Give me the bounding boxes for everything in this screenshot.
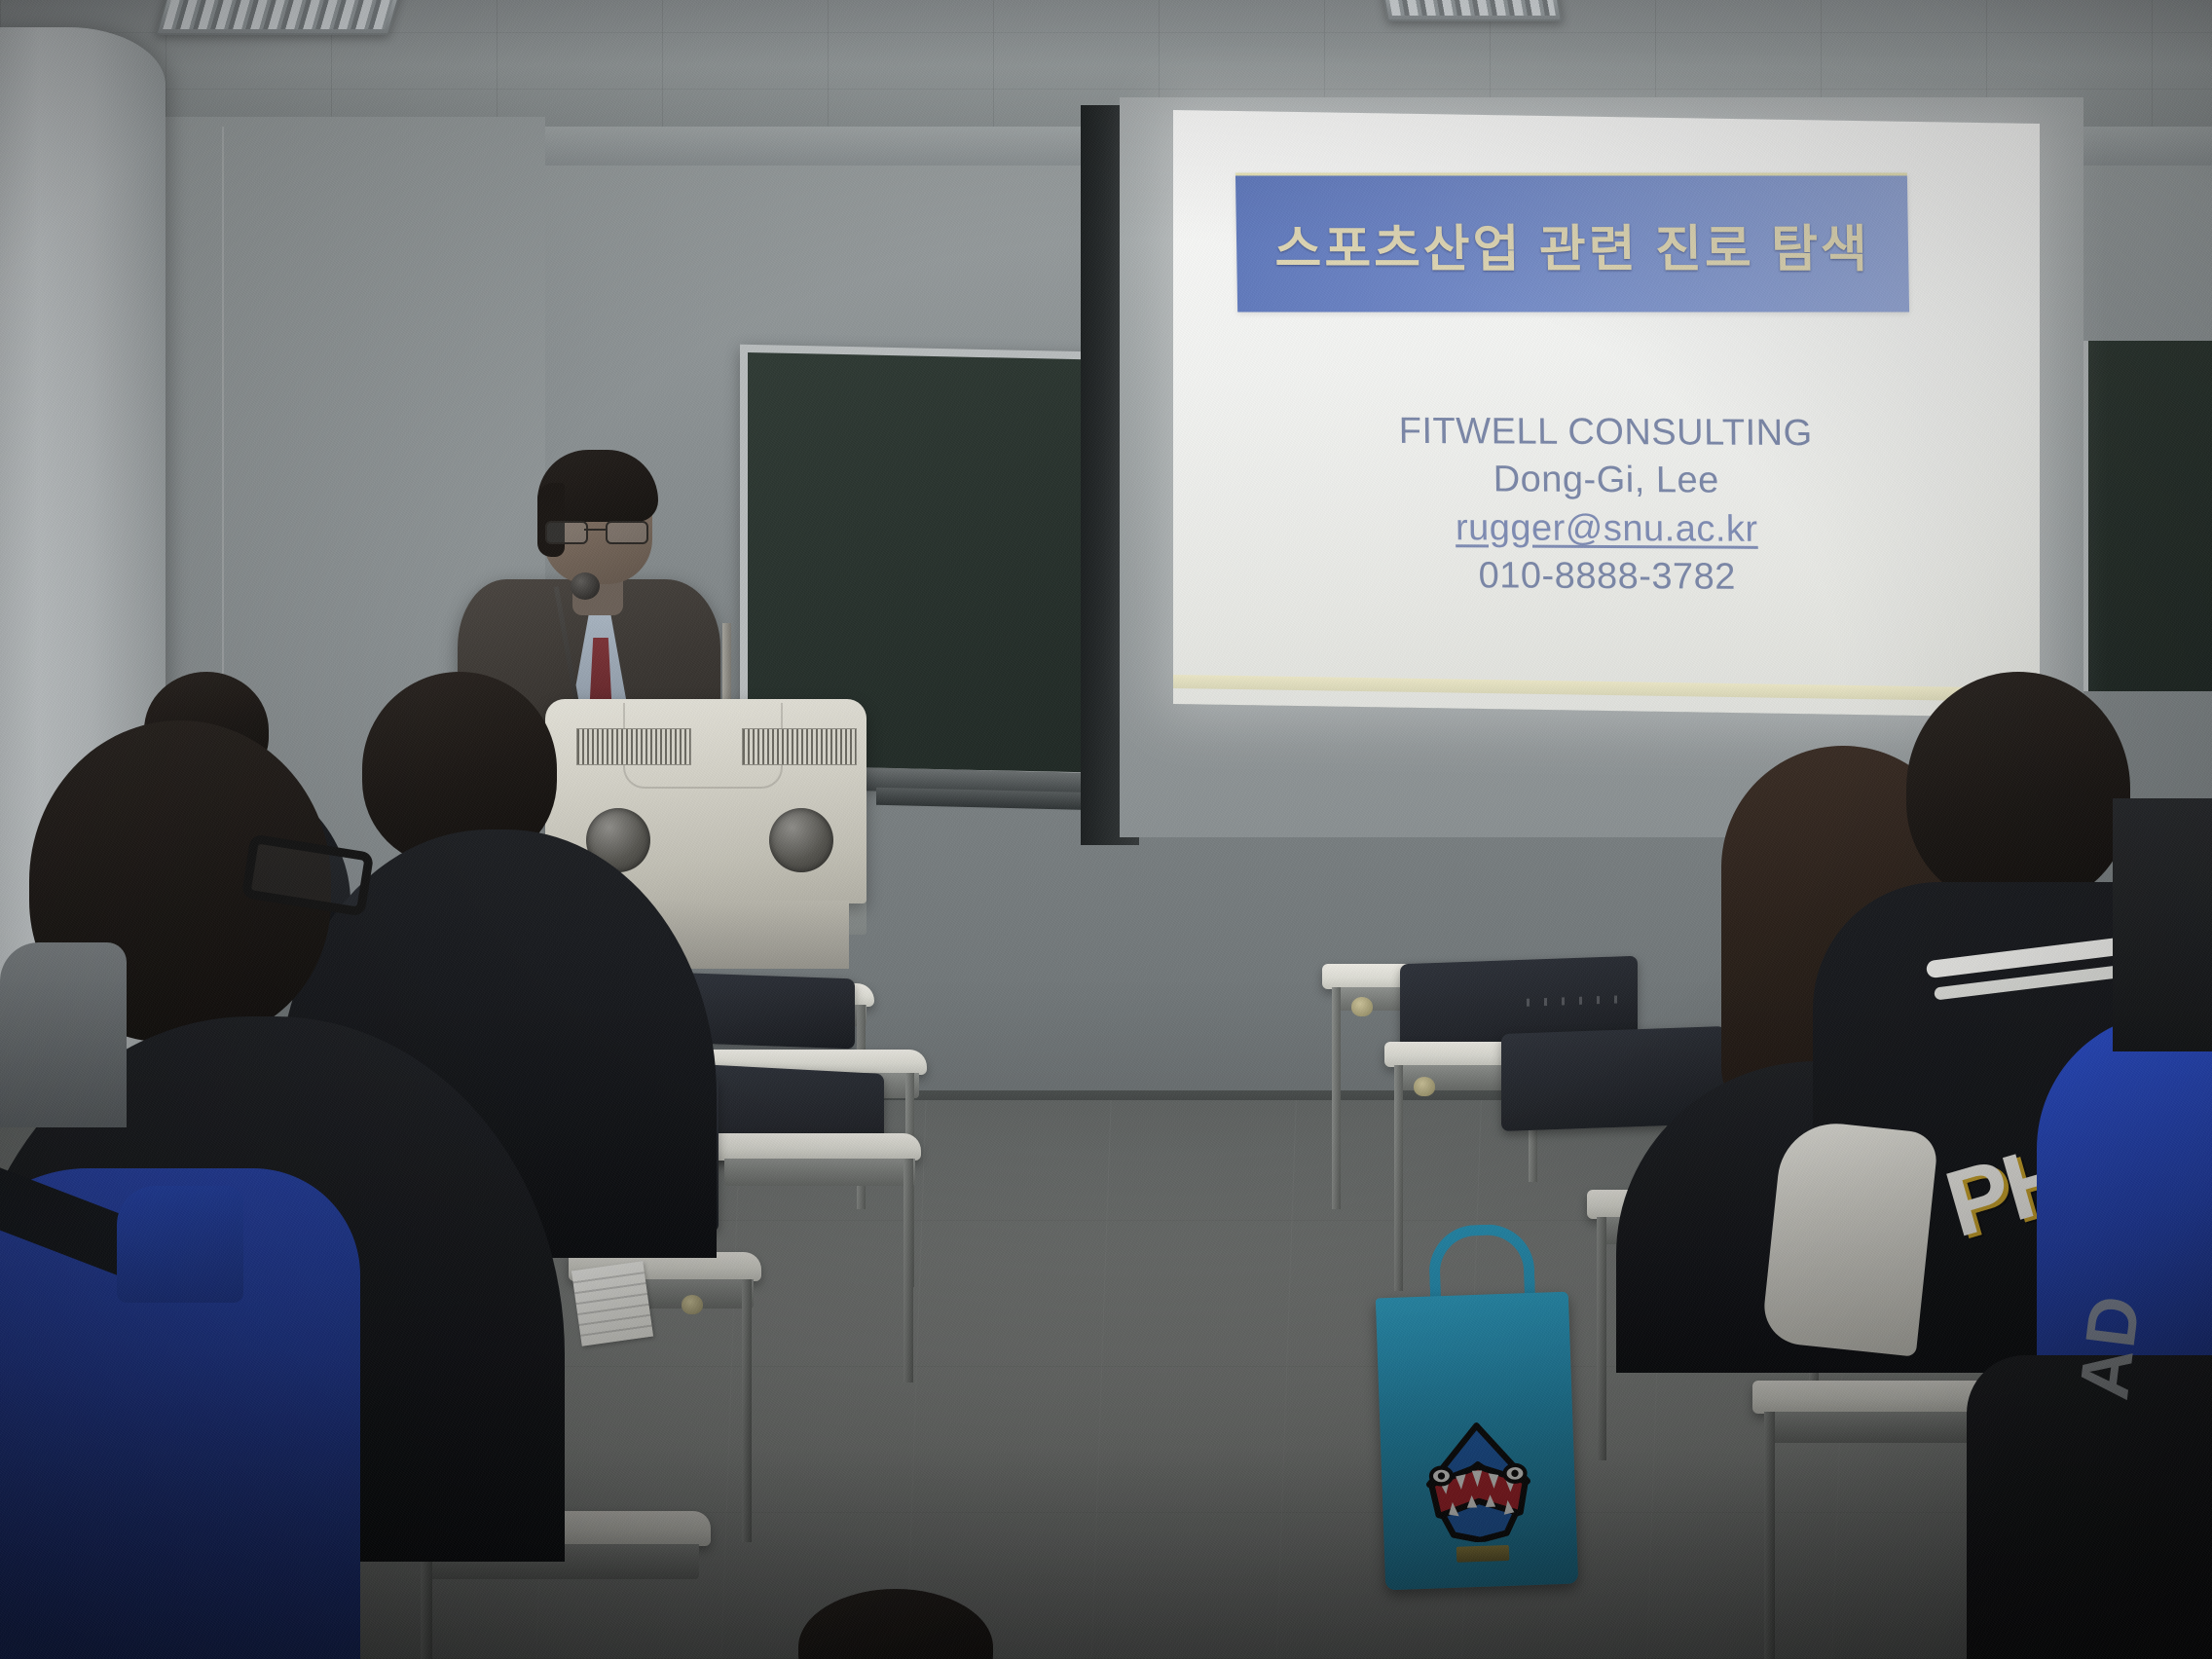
light-louver-left: [163, 0, 398, 29]
microphone-icon: [571, 572, 600, 600]
slide-organization: FITWELL CONSULTING: [1399, 408, 1813, 459]
tote-bag-brand-tag: [1456, 1545, 1510, 1563]
chalkboard-right: [2083, 341, 2212, 691]
projected-slide: 스포츠산업 관련 진로 탐색 FITWELL CONSULTING Dong-G…: [1173, 110, 2040, 718]
shark-face-icon: [1415, 1418, 1541, 1544]
desk-leg: [1764, 1412, 1775, 1659]
ac-grille-left: [576, 728, 691, 765]
shark-tote-bag: [1376, 1292, 1578, 1591]
paper-text-lines: [572, 1271, 651, 1337]
desk-hook: [1351, 997, 1373, 1016]
slide-presenter-name: Dong-Gi, Lee: [1493, 457, 1719, 506]
ac-support-pole: [722, 623, 731, 711]
glasses-bridge: [584, 529, 606, 531]
ac-vent-right: [769, 808, 833, 872]
slide-title-text: 스포츠산업 관련 진로 탐색: [1274, 207, 1871, 280]
desk-leg: [903, 1159, 913, 1382]
desk-left-3: [711, 1133, 921, 1161]
ac-grille-right: [742, 728, 857, 765]
light-louver-right: [1384, 0, 1556, 16]
slide-phone: 010-8888-3782: [1478, 552, 1736, 602]
student-head-varsity: [1906, 672, 2130, 905]
ceiling-light-fixture-right: [1378, 0, 1563, 21]
desk-leg: [1597, 1217, 1606, 1460]
classroom-photo: 스포츠산업 관련 진로 탐색 FITWELL CONSULTING Dong-G…: [0, 0, 2212, 1659]
desk-leg: [1332, 987, 1341, 1209]
student-tracksuit-right: [1967, 1355, 2212, 1659]
paper-handout: [571, 1261, 653, 1346]
desk-hook: [1414, 1077, 1435, 1096]
slide-body: FITWELL CONSULTING Dong-Gi, Lee rugger@s…: [1265, 407, 1948, 603]
chair-vent-slots: [1527, 995, 1624, 1006]
student-far-right: [2113, 798, 2212, 1051]
slide-title-banner: 스포츠산업 관련 진로 탐색: [1235, 172, 1909, 312]
slide-email-link[interactable]: rugger@snu.ac.kr: [1456, 504, 1758, 554]
lens-left: [545, 521, 588, 544]
lens-right: [606, 521, 648, 544]
desk-hook: [682, 1295, 703, 1314]
student-grey-sweater: [0, 942, 127, 1127]
desk-leg: [742, 1279, 752, 1542]
student-white-sleeve: [1760, 1118, 1938, 1356]
desk-apron: [724, 1159, 915, 1186]
presenter-hair-side: [537, 483, 565, 557]
desk-leg: [1394, 1065, 1403, 1291]
tracksuit-text: AD: [2064, 1290, 2157, 1404]
eyeglasses-icon: [545, 521, 646, 542]
blue-jacket-hood: [117, 1186, 243, 1303]
ceiling-light-fixture-left: [155, 0, 405, 35]
